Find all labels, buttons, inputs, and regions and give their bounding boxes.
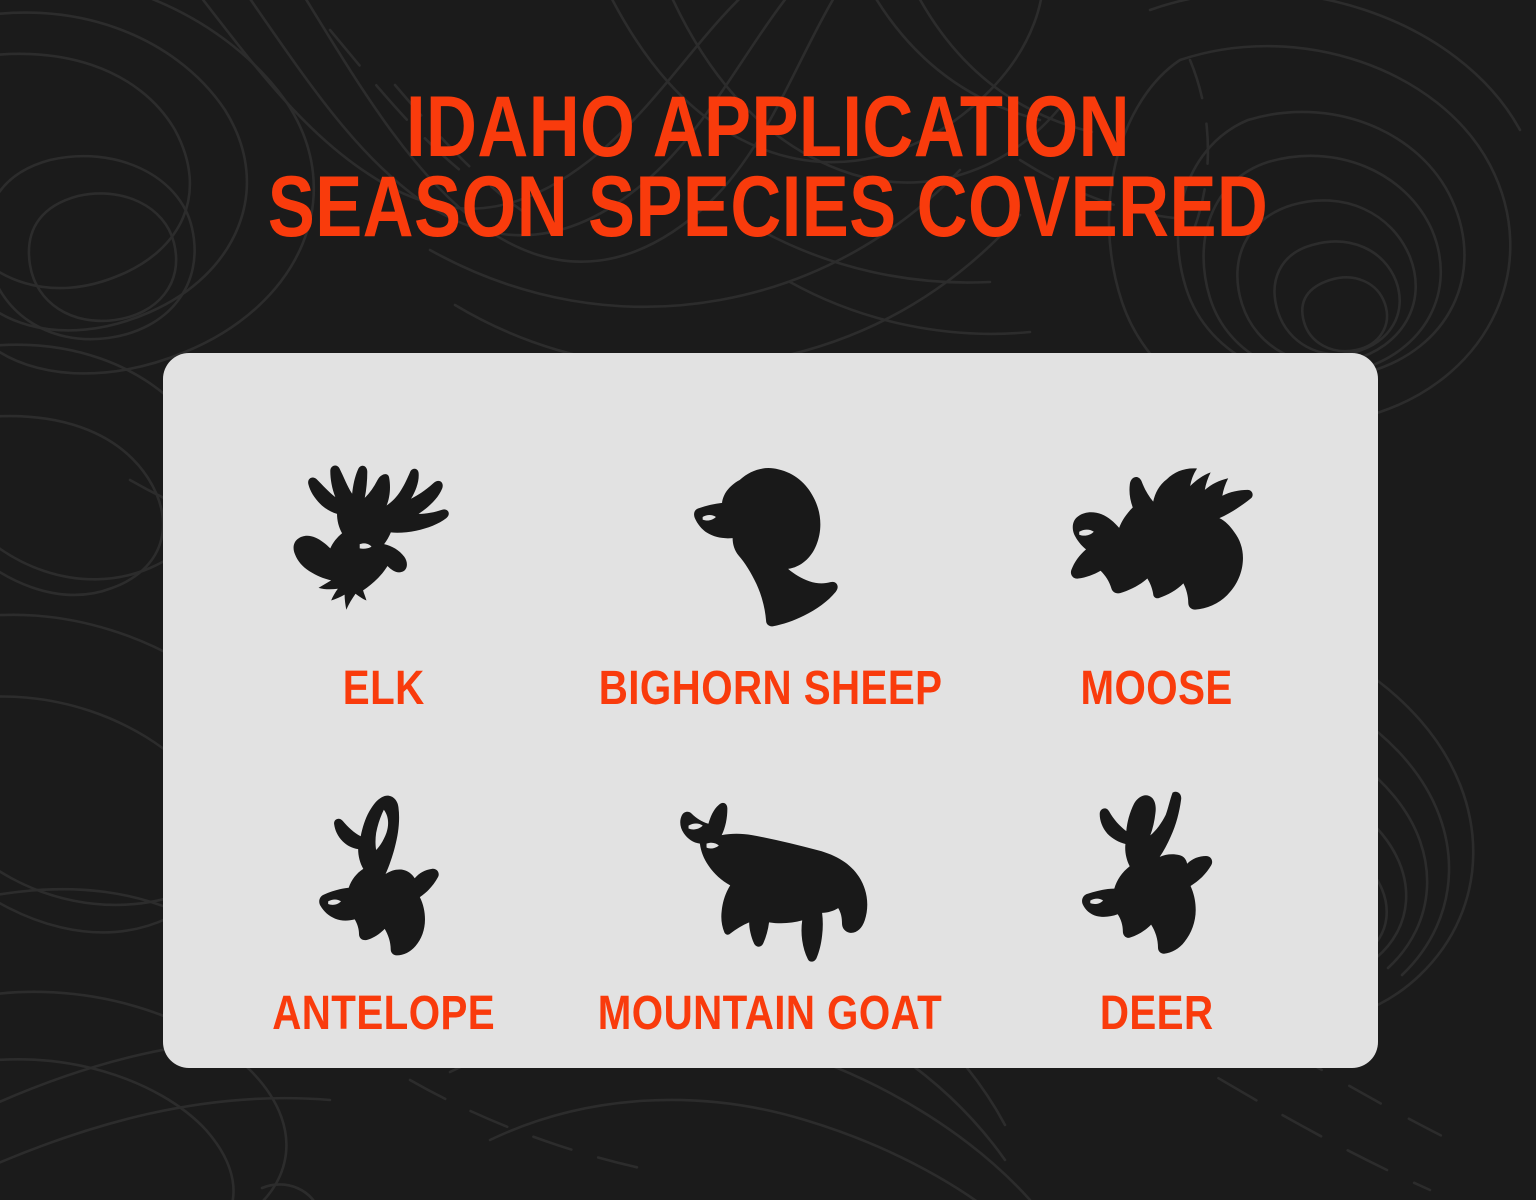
title-line-2: SEASON SPECIES COVERED <box>138 168 1398 248</box>
title-line-1: IDAHO APPLICATION <box>138 88 1398 168</box>
species-label-moose: MOOSE <box>1081 665 1233 713</box>
species-item-elk[interactable]: ELK <box>191 387 577 713</box>
page-title: IDAHO APPLICATION SEASON SPECIES COVERED <box>0 88 1536 248</box>
species-item-moose[interactable]: MOOSE <box>964 387 1350 713</box>
species-card: ELK BIGHORN SHEEP MOOS <box>163 353 1378 1068</box>
infographic-poster: IDAHO APPLICATION SEASON SPECIES COVERED… <box>0 0 1536 1200</box>
species-item-deer[interactable]: DEER <box>964 713 1350 1039</box>
species-item-mountain-goat[interactable]: MOUNTAIN GOAT <box>577 713 963 1039</box>
species-row-1: ELK BIGHORN SHEEP MOOS <box>191 387 1350 713</box>
elk-head-icon <box>279 450 489 635</box>
deer-head-icon <box>1080 784 1234 964</box>
species-label-elk: ELK <box>343 665 425 713</box>
bighorn-sheep-head-icon <box>678 450 863 635</box>
species-row-2: ANTELOPE MOUNTAIN GOAT <box>191 713 1350 1039</box>
mountain-goat-body-icon <box>662 784 880 964</box>
species-item-bighorn-sheep[interactable]: BIGHORN SHEEP <box>577 387 963 713</box>
moose-head-icon <box>1050 450 1264 635</box>
species-label-antelope: ANTELOPE <box>273 990 496 1038</box>
species-item-antelope[interactable]: ANTELOPE <box>191 713 577 1039</box>
species-label-mountain-goat: MOUNTAIN GOAT <box>598 990 942 1038</box>
antelope-head-icon <box>311 784 457 964</box>
species-label-bighorn-sheep: BIGHORN SHEEP <box>599 665 943 713</box>
species-label-deer: DEER <box>1100 990 1214 1038</box>
